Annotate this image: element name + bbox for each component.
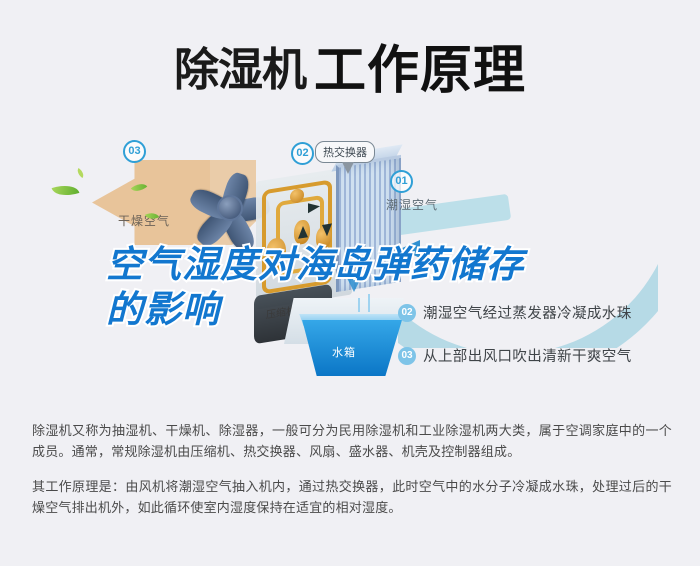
humid-air-label: 潮湿空气 — [386, 196, 438, 213]
fan-hub-icon — [217, 195, 243, 221]
leaf-icon — [75, 168, 86, 178]
water-tank-label: 水箱 — [332, 344, 356, 360]
legend-text-03: 从上部出风口吹出清新干爽空气 — [423, 345, 632, 366]
legend-badge-02: 02 — [398, 304, 416, 322]
diagram-badge-02: 02 — [291, 142, 314, 165]
overlay-headline-line1: 空气湿度对海岛弹药储存 — [106, 242, 626, 287]
leaf-icon — [52, 180, 80, 200]
legend-list: 02 潮湿空气经过蒸发器冷凝成水珠 03 从上部出风口吹出清新干爽空气 — [398, 302, 688, 388]
flow-arrow-down-icon — [322, 223, 332, 237]
legend-item: 02 潮湿空气经过蒸发器冷凝成水珠 — [398, 302, 688, 323]
flow-arrow-up-icon — [298, 225, 308, 239]
legend-text-02: 潮湿空气经过蒸发器冷凝成水珠 — [423, 302, 632, 323]
legend-badge-03: 03 — [398, 347, 416, 365]
diagram-badge-03: 03 — [123, 140, 146, 163]
page-title-part1: 除湿机 — [174, 43, 306, 96]
heat-exchanger-callout: 热交换器 — [315, 141, 375, 163]
page-title: 除湿机工作原理 — [0, 28, 700, 90]
legend-item: 03 从上部出风口吹出清新干爽空气 — [398, 345, 688, 366]
diagram-badge-01: 01 — [390, 170, 413, 193]
body-copy: 除湿机又称为抽湿机、干燥机、除湿器，一般可分为民用除湿机和工业除湿机两大类，属于… — [32, 420, 672, 518]
body-paragraph-2: 其工作原理是：由风机将潮湿空气抽入机内，通过热交换器，此时空气中的水分子冷凝成水… — [32, 476, 672, 518]
flow-arrow-right-icon — [308, 201, 320, 213]
infographic-page: 除湿机工作原理 干燥空气 — [0, 0, 700, 566]
page-title-part2: 工作原理 — [314, 42, 526, 100]
body-paragraph-1: 除湿机又称为抽湿机、干燥机、除湿器，一般可分为民用除湿机和工业除湿机两大类，属于… — [32, 420, 672, 462]
